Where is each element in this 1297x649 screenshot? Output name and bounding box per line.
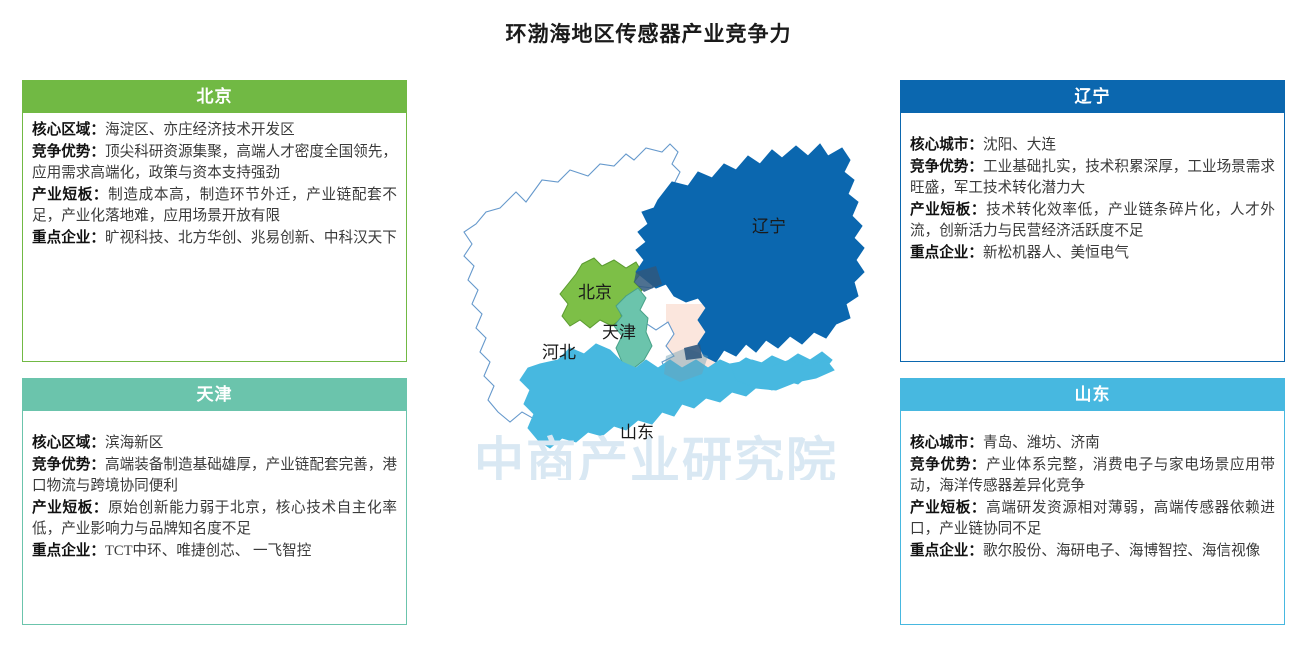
map-label-hebei: 河北 bbox=[542, 343, 576, 362]
card-tianjin-body: 核心区域：滨海新区 竞争优势：高端装备制造基础雄厚，产业链配套完善，港口物流与跨… bbox=[22, 411, 407, 625]
page-title: 环渤海地区传感器产业竞争力 bbox=[0, 18, 1297, 48]
card-liaoning-text-3: 新松机器人、美恒电气 bbox=[983, 245, 1129, 261]
map-label-shandong: 山东 bbox=[620, 423, 654, 442]
card-shandong-body: 核心城市：青岛、潍坊、济南 竞争优势：产业体系完整，消费电子与家电场景应用带动，… bbox=[900, 411, 1285, 625]
card-tianjin-row-1: 竞争优势：高端装备制造基础雄厚，产业链配套完善，港口物流与跨境协同便利 bbox=[32, 455, 397, 498]
card-liaoning-label-2: 产业短板： bbox=[910, 202, 986, 218]
map-label-liaoning: 辽宁 bbox=[752, 217, 786, 236]
card-beijing-label-3: 重点企业： bbox=[32, 230, 105, 246]
card-tianjin-title: 天津 bbox=[22, 378, 407, 411]
card-shandong: 山东 核心城市：青岛、潍坊、济南 竞争优势：产业体系完整，消费电子与家电场景应用… bbox=[900, 378, 1285, 625]
card-beijing-label-2: 产业短板： bbox=[32, 187, 108, 203]
card-shandong-label-1: 竞争优势： bbox=[910, 457, 986, 473]
card-tianjin-label-1: 竞争优势： bbox=[32, 457, 105, 473]
card-tianjin-row-2: 产业短板：原始创新能力弱于北京，核心技术自主化率低，产业影响力与品牌知名度不足 bbox=[32, 498, 397, 541]
card-beijing-title: 北京 bbox=[22, 80, 407, 113]
card-tianjin-label-0: 核心区域： bbox=[32, 435, 105, 451]
card-tianjin-text-0: 滨海新区 bbox=[105, 435, 163, 451]
card-shandong-label-2: 产业短板： bbox=[910, 500, 986, 516]
card-shandong-row-1: 竞争优势：产业体系完整，消费电子与家电场景应用带动，海洋传感器差异化竞争 bbox=[910, 455, 1275, 498]
card-shandong-label-3: 重点企业： bbox=[910, 543, 983, 559]
card-beijing-text-3: 旷视科技、北方华创、兆易创新、中科汉天下 bbox=[105, 230, 397, 246]
card-tianjin-row-0: 核心区域：滨海新区 bbox=[32, 433, 397, 455]
card-shandong-text-0: 青岛、潍坊、济南 bbox=[983, 435, 1100, 451]
card-shandong-title: 山东 bbox=[900, 378, 1285, 411]
map-region: 中商产业研究院 河北 北京 天津 辽宁 山东 bbox=[430, 60, 900, 480]
card-tianjin-text-3: TCT中环、唯捷创芯、 一飞智控 bbox=[105, 543, 311, 559]
card-beijing-label-0: 核心区域： bbox=[32, 122, 105, 138]
card-tianjin-label-3: 重点企业： bbox=[32, 543, 105, 559]
card-beijing-row-0: 核心区域：海淀区、亦庄经济技术开发区 bbox=[32, 120, 397, 142]
card-liaoning-title: 辽宁 bbox=[900, 80, 1285, 113]
watermark-text: 中商产业研究院 bbox=[474, 433, 838, 480]
card-liaoning-label-3: 重点企业： bbox=[910, 245, 983, 261]
card-tianjin: 天津 核心区域：滨海新区 竞争优势：高端装备制造基础雄厚，产业链配套完善，港口物… bbox=[22, 378, 407, 625]
card-shandong-row-3: 重点企业：歌尔股份、海研电子、海博智控、海信视像 bbox=[910, 541, 1275, 563]
card-beijing-label-1: 竞争优势： bbox=[32, 144, 105, 160]
card-liaoning-label-1: 竞争优势： bbox=[910, 159, 983, 175]
card-shandong-row-2: 产业短板：高端研发资源相对薄弱，高端传感器依赖进口，产业链协同不足 bbox=[910, 498, 1275, 541]
card-tianjin-row-3: 重点企业：TCT中环、唯捷创芯、 一飞智控 bbox=[32, 541, 397, 563]
card-liaoning-label-0: 核心城市： bbox=[910, 137, 983, 153]
card-liaoning-row-3: 重点企业：新松机器人、美恒电气 bbox=[910, 243, 1275, 265]
card-beijing-row-2: 产业短板：制造成本高，制造环节外迁，产业链配套不足，产业化落地难，应用场景开放有… bbox=[32, 185, 397, 228]
card-beijing-body: 核心区域：海淀区、亦庄经济技术开发区 竞争优势：顶尖科研资源集聚，高端人才密度全… bbox=[22, 113, 407, 362]
card-liaoning-text-0: 沈阳、大连 bbox=[983, 137, 1056, 153]
card-shandong-text-3: 歌尔股份、海研电子、海博智控、海信视像 bbox=[983, 543, 1260, 559]
map-label-tianjin: 天津 bbox=[602, 323, 636, 342]
map-label-beijing: 北京 bbox=[578, 283, 612, 302]
card-liaoning-row-0: 核心城市：沈阳、大连 bbox=[910, 135, 1275, 157]
card-liaoning-body: 核心城市：沈阳、大连 竞争优势：工业基础扎实，技术积累深厚，工业场景需求旺盛，军… bbox=[900, 113, 1285, 362]
card-shandong-label-0: 核心城市： bbox=[910, 435, 983, 451]
card-tianjin-label-2: 产业短板： bbox=[32, 500, 108, 516]
card-beijing-row-3: 重点企业：旷视科技、北方华创、兆易创新、中科汉天下 bbox=[32, 228, 397, 250]
china-bohai-map: 中商产业研究院 河北 北京 天津 辽宁 山东 bbox=[430, 60, 900, 480]
card-liaoning: 辽宁 核心城市：沈阳、大连 竞争优势：工业基础扎实，技术积累深厚，工业场景需求旺… bbox=[900, 80, 1285, 362]
card-liaoning-row-2: 产业短板：技术转化效率低，产业链条碎片化，人才外流，创新活力与民营经济活跃度不足 bbox=[910, 200, 1275, 243]
card-shandong-row-0: 核心城市：青岛、潍坊、济南 bbox=[910, 433, 1275, 455]
card-beijing-row-1: 竞争优势：顶尖科研资源集聚，高端人才密度全国领先，应用需求高端化，政策与资本支持… bbox=[32, 142, 397, 185]
card-beijing-text-0: 海淀区、亦庄经济技术开发区 bbox=[105, 122, 295, 138]
card-liaoning-row-1: 竞争优势：工业基础扎实，技术积累深厚，工业场景需求旺盛，军工技术转化潜力大 bbox=[910, 157, 1275, 200]
card-beijing: 北京 核心区域：海淀区、亦庄经济技术开发区 竞争优势：顶尖科研资源集聚，高端人才… bbox=[22, 80, 407, 362]
